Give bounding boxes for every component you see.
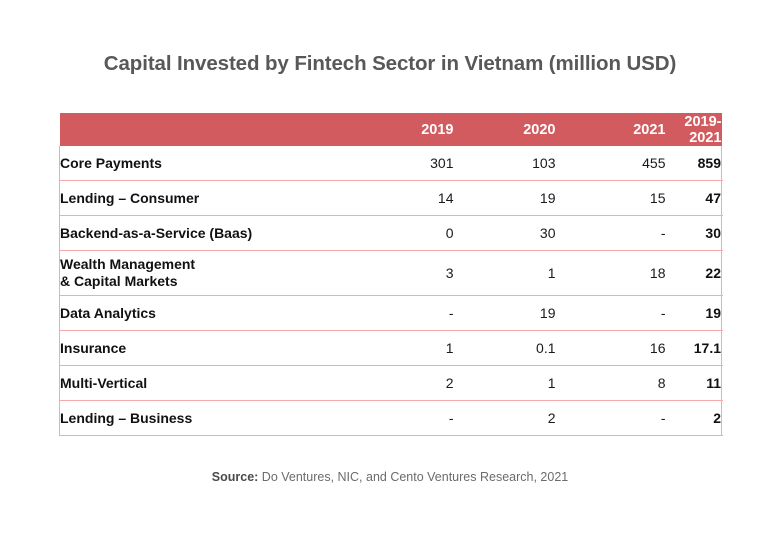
row-label: Multi-Vertical [60,366,344,401]
cell-2021: 455 [556,146,666,181]
source-text: Do Ventures, NIC, and Cento Ventures Res… [258,470,568,484]
source-note: Source: Do Ventures, NIC, and Cento Vent… [0,470,780,484]
cell-2020: 103 [454,146,556,181]
cell-total: 30 [666,216,722,251]
cell-2021: 15 [556,181,666,216]
table-row: Lending – Business - 2 - 2 [60,401,722,436]
cell-total: 47 [666,181,722,216]
row-label: Core Payments [60,146,344,181]
column-header-2020: 2020 [454,113,556,146]
cell-2021: - [556,296,666,331]
source-label: Source: [212,470,259,484]
row-label: Lending – Business [60,401,344,436]
cell-2021: - [556,216,666,251]
cell-2019: 301 [344,146,454,181]
cell-2020: 19 [454,296,556,331]
cell-2021: 16 [556,331,666,366]
row-label: Lending – Consumer [60,181,344,216]
cell-total: 22 [666,251,722,296]
table-header: 2019 2020 2021 2019-2021 [60,113,722,146]
row-label: Data Analytics [60,296,344,331]
row-label: Insurance [60,331,344,366]
cell-total: 11 [666,366,722,401]
fintech-capital-table: 2019 2020 2021 2019-2021 Core Payments 3… [59,113,722,436]
chart-container: Capital Invested by Fintech Sector in Vi… [0,0,780,535]
row-label-line1: Wealth Management [60,256,195,272]
cell-2020: 1 [454,366,556,401]
cell-2021: 18 [556,251,666,296]
cell-2019: - [344,401,454,436]
table-row: Insurance 1 0.1 16 17.1 [60,331,722,366]
cell-2019: 2 [344,366,454,401]
column-header-2019: 2019 [344,113,454,146]
table-row: Multi-Vertical 2 1 8 11 [60,366,722,401]
cell-2019: 14 [344,181,454,216]
cell-total: 17.1 [666,331,722,366]
cell-total: 2 [666,401,722,436]
cell-2020: 30 [454,216,556,251]
table-header-row: 2019 2020 2021 2019-2021 [60,113,722,146]
cell-2020: 2 [454,401,556,436]
table-body: Core Payments 301 103 455 859 Lending – … [60,146,722,436]
row-label-line2: & Capital Markets [60,273,177,289]
data-table-wrapper: 2019 2020 2021 2019-2021 Core Payments 3… [59,113,721,436]
table-row: Backend-as-a-Service (Baas) 0 30 - 30 [60,216,722,251]
table-row: Lending – Consumer 14 19 15 47 [60,181,722,216]
cell-2020: 19 [454,181,556,216]
cell-2021: - [556,401,666,436]
row-label: Backend-as-a-Service (Baas) [60,216,344,251]
cell-2019: 3 [344,251,454,296]
column-header-total: 2019-2021 [666,113,722,146]
table-row: Wealth Management& Capital Markets 3 1 1… [60,251,722,296]
cell-2019: 1 [344,331,454,366]
cell-2019: - [344,296,454,331]
cell-total: 859 [666,146,722,181]
page-title: Capital Invested by Fintech Sector in Vi… [0,52,780,76]
column-header-sector [60,113,344,146]
table-row: Data Analytics - 19 - 19 [60,296,722,331]
cell-2020: 0.1 [454,331,556,366]
row-label: Wealth Management& Capital Markets [60,251,344,296]
column-header-2021: 2021 [556,113,666,146]
table-row: Core Payments 301 103 455 859 [60,146,722,181]
cell-2019: 0 [344,216,454,251]
cell-2020: 1 [454,251,556,296]
cell-2021: 8 [556,366,666,401]
cell-total: 19 [666,296,722,331]
